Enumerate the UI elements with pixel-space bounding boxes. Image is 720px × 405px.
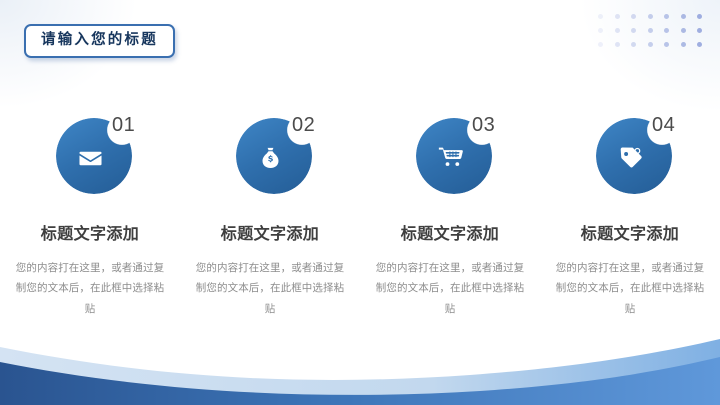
item-heading: 标题文字添加 (581, 220, 679, 244)
page-title: 请输入您的标题 (41, 33, 158, 48)
feature-item[interactable]: 04 标题文字添加 您的内容打在这里，或者通过复制您的文本后，在此框中选择粘贴 (540, 118, 720, 319)
dot-column (664, 14, 669, 47)
dot (598, 42, 603, 47)
dot (631, 42, 636, 47)
item-body: 您的内容打在这里，或者通过复制您的文本后，在此框中选择粘贴 (14, 258, 166, 319)
dot (697, 28, 702, 33)
item-body: 您的内容打在这里，或者通过复制您的文本后，在此框中选择粘贴 (554, 258, 706, 319)
item-number: 03 (472, 115, 495, 135)
dot (697, 14, 702, 19)
dot-column (697, 14, 702, 47)
dot (615, 42, 620, 47)
dot (664, 42, 669, 47)
dot (681, 14, 686, 19)
dot-column (631, 14, 636, 47)
dot-column (615, 14, 620, 47)
item-heading: 标题文字添加 (41, 220, 139, 244)
dot (681, 28, 686, 33)
badge-01[interactable]: 01 (56, 118, 132, 194)
feature-item[interactable]: 03 标题文字添加 您的内容打在这里，或者通过复制您的文本后，在此框中选择粘贴 (360, 118, 540, 319)
feature-item[interactable]: 02 标题文字添加 您的内容打在这里，或者通过复制您的文本后，在此框中选择粘贴 (180, 118, 360, 319)
badge-02[interactable]: 02 (236, 118, 312, 194)
dot-column (681, 14, 686, 47)
dot (681, 42, 686, 47)
dot (615, 14, 620, 19)
dot (598, 14, 603, 19)
item-heading: 标题文字添加 (401, 220, 499, 244)
dot (664, 28, 669, 33)
item-body: 您的内容打在这里，或者通过复制您的文本后，在此框中选择粘贴 (374, 258, 526, 319)
dot (648, 28, 653, 33)
badge-04[interactable]: 04 (596, 118, 672, 194)
dot (648, 42, 653, 47)
item-number: 04 (652, 115, 675, 135)
item-heading: 标题文字添加 (221, 220, 319, 244)
bottom-wave-decoration (0, 315, 720, 405)
dot-grid-decoration (598, 14, 702, 47)
slide-title-box[interactable]: 请输入您的标题 (24, 24, 175, 58)
feature-item[interactable]: 01 标题文字添加 您的内容打在这里，或者通过复制您的文本后，在此框中选择粘贴 (0, 118, 180, 319)
dot (631, 28, 636, 33)
dot (598, 28, 603, 33)
dot (648, 14, 653, 19)
dot-column (648, 14, 653, 47)
badge-03[interactable]: 03 (416, 118, 492, 194)
item-number: 01 (112, 115, 135, 135)
item-number: 02 (292, 115, 315, 135)
dot (631, 14, 636, 19)
dot (697, 42, 702, 47)
feature-items-row: 01 标题文字添加 您的内容打在这里，或者通过复制您的文本后，在此框中选择粘贴 … (0, 118, 720, 319)
item-body: 您的内容打在这里，或者通过复制您的文本后，在此框中选择粘贴 (194, 258, 346, 319)
dot (615, 28, 620, 33)
dot (664, 14, 669, 19)
dot-column (598, 14, 603, 47)
slide-canvas: 请输入您的标题 01 标题文字添加 您的内容打在这里，或者通过复制您的文本后，在… (0, 0, 720, 405)
